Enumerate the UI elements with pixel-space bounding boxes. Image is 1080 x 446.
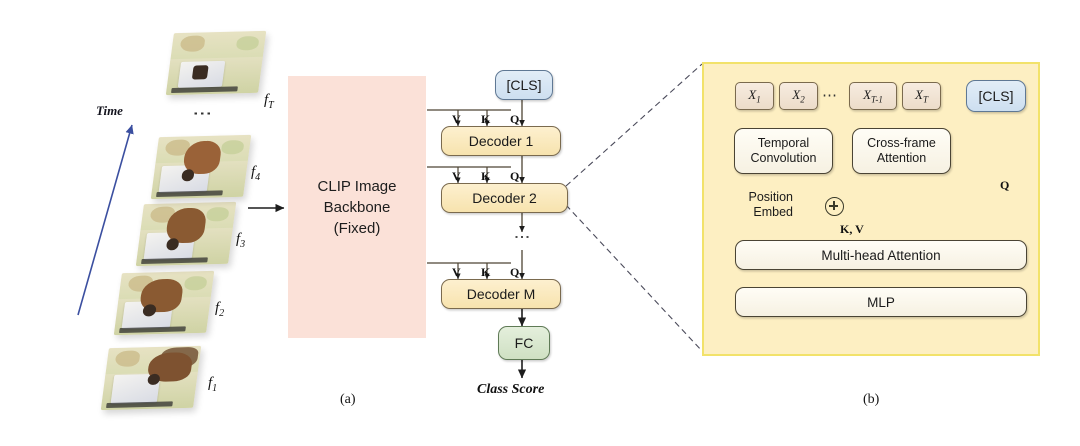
video-frame-1 [101, 346, 202, 410]
video-frame-4 [151, 135, 252, 199]
token-xt-minus-1-label: XT-1 [863, 87, 883, 105]
cls-token-a[interactable]: [CLS] [495, 70, 553, 100]
decoder-m-label: Decoder M [467, 286, 535, 302]
mlp-label: MLP [867, 295, 895, 310]
token-ellipsis: ⋯ [822, 86, 838, 104]
cls-token-a-label: [CLS] [506, 77, 541, 93]
token-x2[interactable]: X2 [779, 82, 818, 110]
video-frame-T [166, 31, 267, 95]
v-label-decoder-1: V [452, 112, 461, 127]
backbone-line-3: (Fixed) [334, 220, 381, 237]
k-label-decoder-m: K [481, 265, 490, 280]
decoder-2-label: Decoder 2 [472, 190, 537, 206]
decoder-2[interactable]: Decoder 2 [441, 183, 568, 213]
backbone-line-2: Backbone [324, 199, 391, 216]
decoder-1[interactable]: Decoder 1 [441, 126, 561, 156]
class-score-output: Class Score [477, 382, 544, 398]
video-frame-3 [136, 202, 237, 266]
kv-label: K, V [840, 222, 864, 237]
backbone-line-1: CLIP Image [318, 178, 397, 195]
q-label-decoder-1: Q [510, 112, 519, 127]
q-label-decoder-2: Q [510, 169, 519, 184]
frame-label-3: f3 [236, 231, 245, 250]
fc-label: FC [515, 335, 534, 351]
temporal-convolution-block[interactable]: Temporal Convolution [734, 128, 833, 174]
k-label-decoder-1: K [481, 112, 490, 127]
token-xt[interactable]: XT [902, 82, 941, 110]
token-x1-label: X1 [748, 87, 760, 105]
figure-root: f1 f2 f3 f4 ⋮ [0, 0, 1080, 446]
fc-layer[interactable]: FC [498, 326, 550, 360]
frame-label-2: f2 [215, 300, 224, 319]
sum-operator-icon [825, 197, 844, 216]
token-xt-label: XT [915, 87, 928, 105]
frame-label-4: f4 [251, 164, 260, 183]
video-frame-2 [114, 271, 215, 335]
k-label-decoder-2: K [481, 169, 490, 184]
position-embed-label: Position Embed [713, 190, 793, 220]
multi-head-attention-label: Multi-head Attention [821, 248, 940, 263]
cls-token-b-label: [CLS] [978, 88, 1013, 104]
decoder-1-label: Decoder 1 [469, 133, 534, 149]
v-label-decoder-2: V [452, 169, 461, 184]
cross-frame-attention-block[interactable]: Cross-frame Attention [852, 128, 951, 174]
token-xt-minus-1[interactable]: XT-1 [849, 82, 897, 110]
temporal-convolution-label: Temporal Convolution [750, 136, 816, 166]
cross-frame-attention-label: Cross-frame Attention [867, 136, 936, 166]
token-x1[interactable]: X1 [735, 82, 774, 110]
clip-image-backbone: CLIP Image Backbone (Fixed) [288, 76, 426, 338]
q-label-decoder-m: Q [510, 265, 519, 280]
v-label-decoder-m: V [452, 265, 461, 280]
panel-a-label: (a) [340, 392, 356, 408]
token-x2-label: X2 [792, 87, 804, 105]
time-axis-label: Time [96, 103, 123, 119]
q-label-panel-b: Q [1000, 178, 1009, 193]
frames-ellipsis: ⋮ [198, 104, 205, 123]
panel-b-label: (b) [863, 392, 879, 408]
mlp-block[interactable]: MLP [735, 287, 1027, 317]
cls-token-b[interactable]: [CLS] [966, 80, 1026, 112]
multi-head-attention-block[interactable]: Multi-head Attention [735, 240, 1027, 270]
frame-label-T: fT [264, 92, 274, 111]
decoder-m[interactable]: Decoder M [441, 279, 561, 309]
frame-label-1: f1 [208, 375, 217, 394]
decoder-stack-ellipsis: ⋮ [518, 229, 525, 245]
